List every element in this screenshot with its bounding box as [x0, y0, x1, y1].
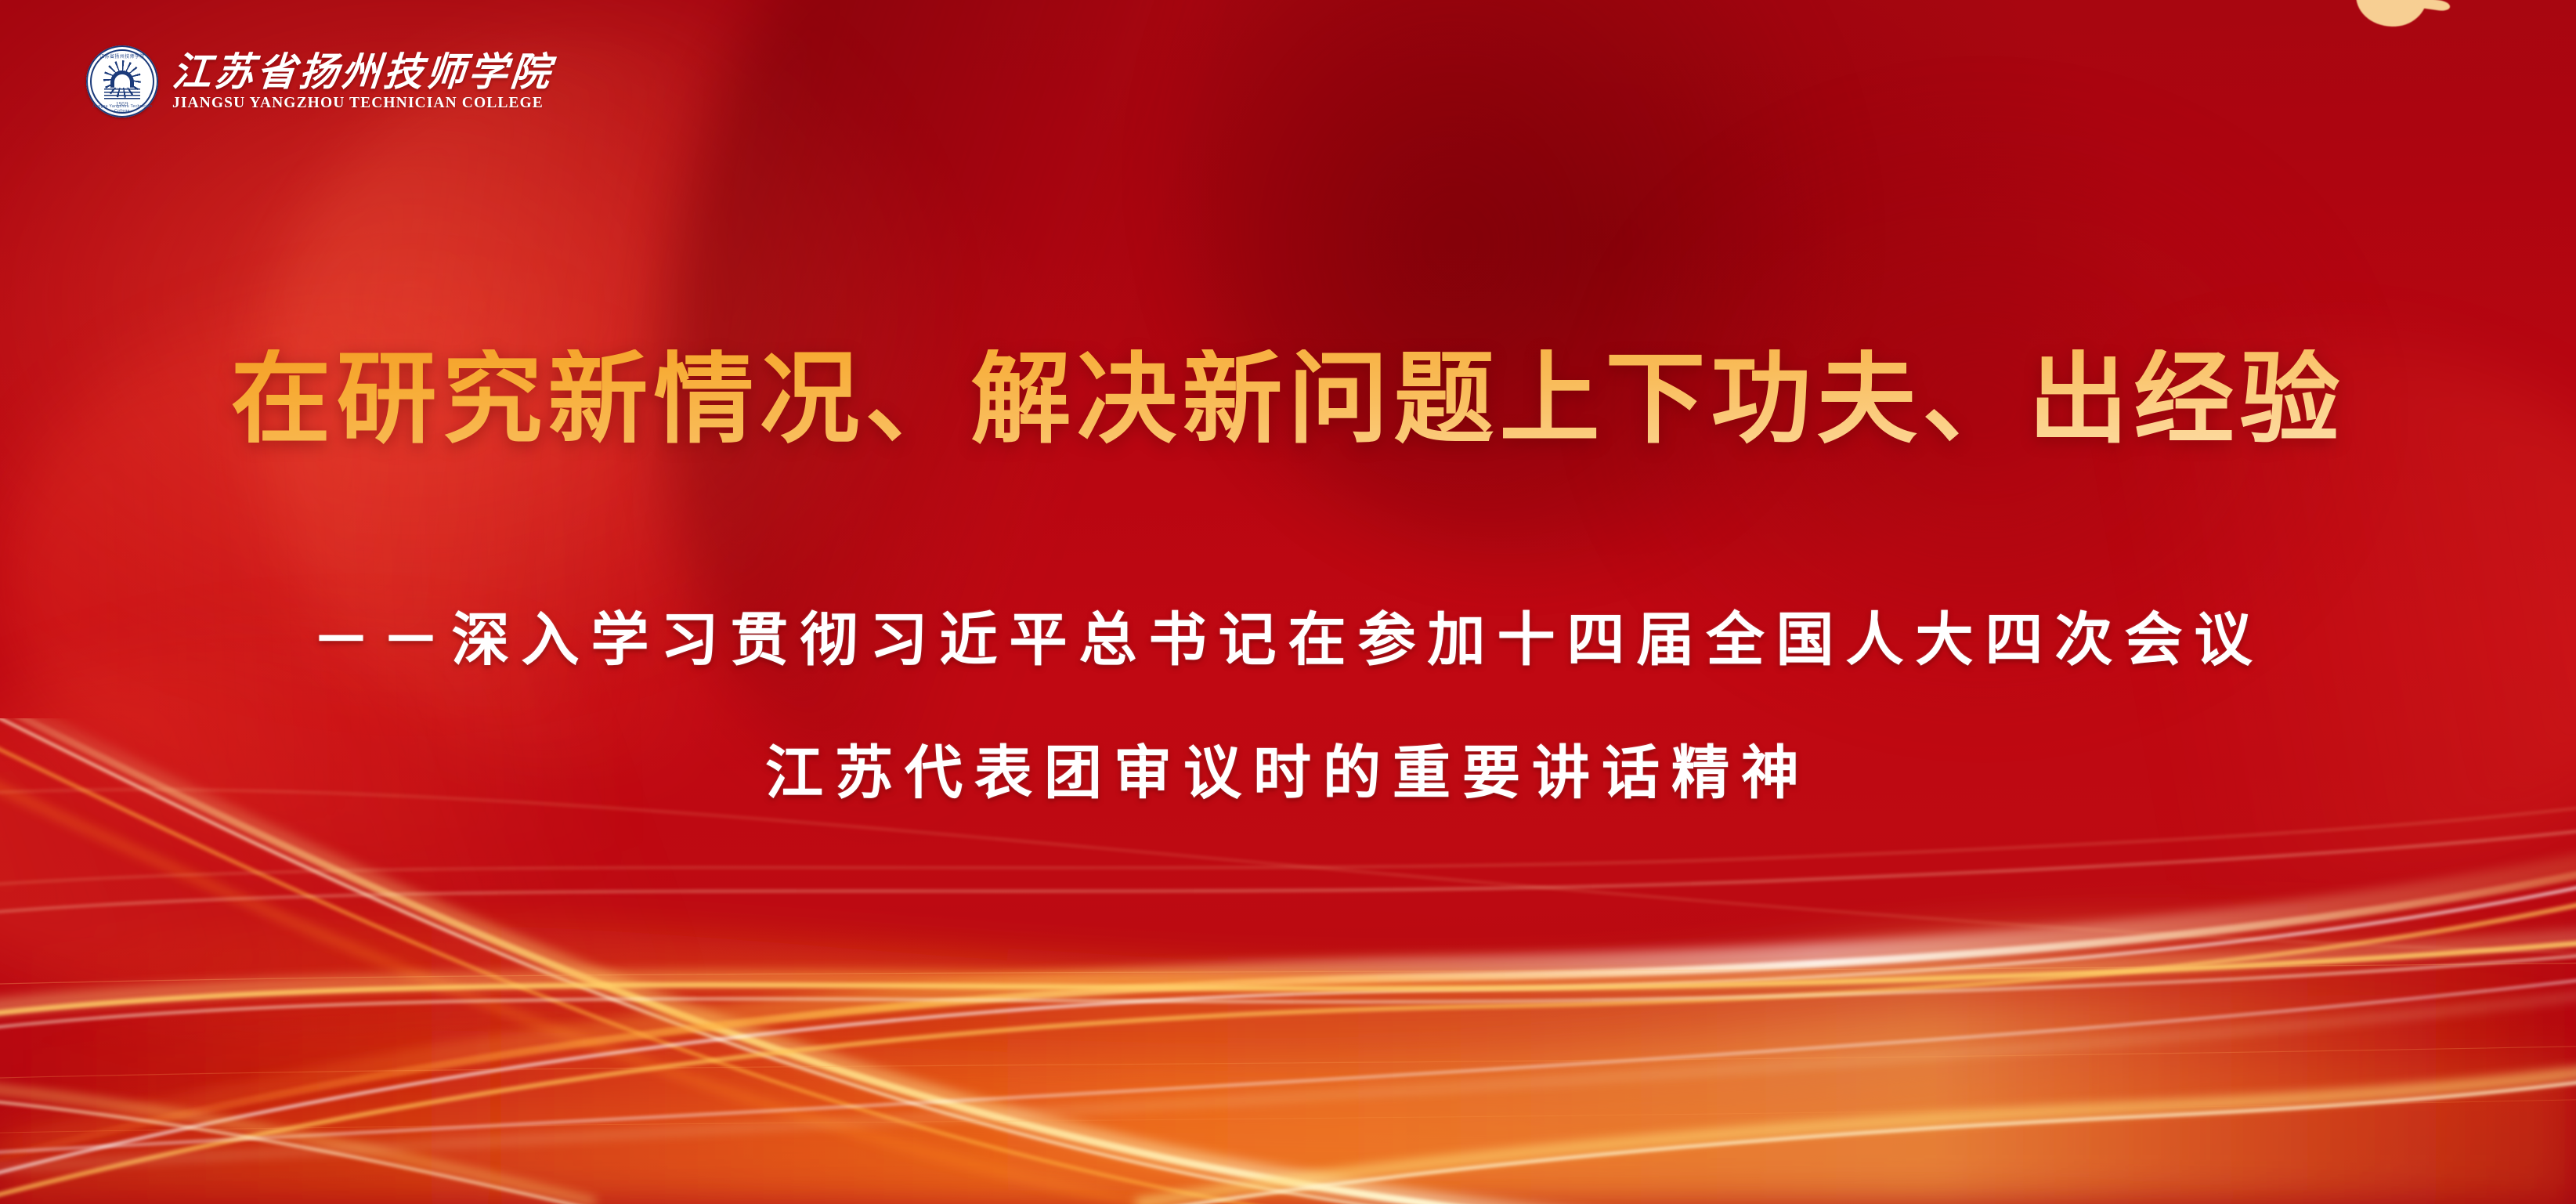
subtitle-line-1: －－深入学习贯彻习近平总书记在参加十四届全国人大四次会议 — [0, 593, 2576, 677]
seal-arch-icon — [110, 71, 134, 88]
seal-arc-top-text: 江苏省扬州技师学院 — [86, 52, 158, 60]
college-name-en: JIANGSU YANGZHOU TECHNICIAN COLLEGE — [172, 95, 553, 112]
gold-flourish-icon — [2355, 0, 2433, 31]
event-banner: 江苏省扬州技师学院 1959 Jiangsu Yangzhou Technici… — [0, 0, 2576, 1204]
college-logo: 江苏省扬州技师学院 1959 Jiangsu Yangzhou Technici… — [86, 45, 553, 118]
seal-arc-bottom-text: Jiangsu Yangzhou Technician College — [86, 104, 158, 114]
college-seal-icon: 江苏省扬州技师学院 1959 Jiangsu Yangzhou Technici… — [86, 45, 158, 118]
subtitle-line-2: 江苏代表团审议时的重要讲话精神 — [0, 726, 2576, 810]
seal-book-icon — [104, 89, 140, 99]
page-title: 在研究新情况、解决新问题上下功夫、出经验 — [0, 349, 2576, 450]
college-name-cn: 江苏省扬州技师学院 — [171, 52, 555, 92]
